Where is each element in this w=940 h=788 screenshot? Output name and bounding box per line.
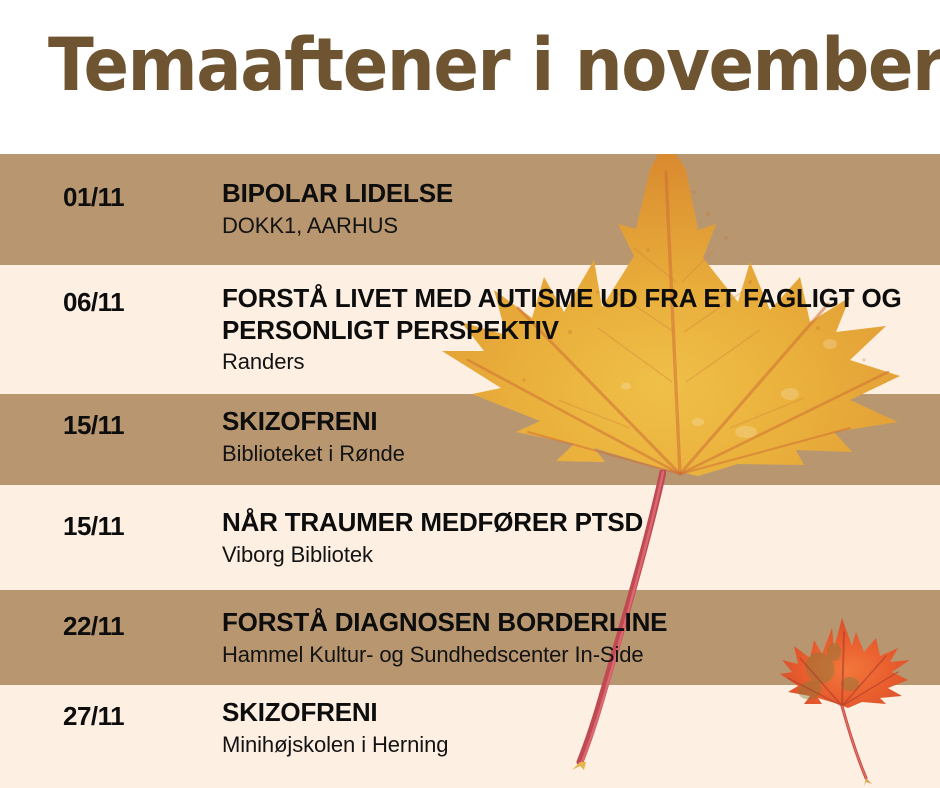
event-info: SKIZOFRENIMinihøjskolen i Herning: [222, 697, 930, 758]
event-row[interactable]: 22/11FORSTÅ DIAGNOSEN BORDERLINEHammel K…: [0, 590, 940, 685]
event-venue: Minihøjskolen i Herning: [222, 732, 930, 758]
event-row[interactable]: 01/11BIPOLAR LIDELSEDOKK1, AARHUS: [0, 154, 940, 265]
event-info: BIPOLAR LIDELSEDOKK1, AARHUS: [222, 178, 930, 239]
event-row[interactable]: 15/11SKIZOFRENIBiblioteket i Rønde: [0, 394, 940, 485]
event-title: BIPOLAR LIDELSE: [222, 178, 930, 210]
event-info: NÅR TRAUMER MEDFØRER PTSDViborg Bibliote…: [222, 507, 930, 568]
event-venue: DOKK1, AARHUS: [222, 213, 930, 239]
event-info: SKIZOFRENIBiblioteket i Rønde: [222, 406, 930, 467]
event-title: FORSTÅ DIAGNOSEN BORDERLINE: [222, 607, 930, 639]
page-title: Temaaftener i november: [48, 29, 940, 102]
event-title: SKIZOFRENI: [222, 697, 930, 729]
poster-header: Temaaftener i november: [0, 0, 940, 154]
event-row[interactable]: 27/11SKIZOFRENIMinihøjskolen i Herning: [0, 685, 940, 788]
event-title: NÅR TRAUMER MEDFØRER PTSD: [222, 507, 930, 539]
event-venue: Randers: [222, 349, 930, 375]
event-venue: Viborg Bibliotek: [222, 542, 930, 568]
event-date: 01/11: [63, 182, 124, 213]
event-date: 15/11: [63, 511, 124, 542]
event-row[interactable]: 06/11FORSTÅ LIVET MED AUTISME UD FRA ET …: [0, 265, 940, 394]
event-date: 06/11: [63, 287, 124, 318]
event-title: FORSTÅ LIVET MED AUTISME UD FRA ET FAGLI…: [222, 283, 930, 346]
event-venue: Biblioteket i Rønde: [222, 441, 930, 467]
event-date: 22/11: [63, 611, 124, 642]
event-row[interactable]: 15/11NÅR TRAUMER MEDFØRER PTSDViborg Bib…: [0, 485, 940, 590]
event-date: 27/11: [63, 701, 124, 732]
event-date: 15/11: [63, 410, 124, 441]
event-info: FORSTÅ DIAGNOSEN BORDERLINEHammel Kultur…: [222, 607, 930, 668]
event-title: SKIZOFRENI: [222, 406, 930, 438]
event-venue: Hammel Kultur- og Sundhedscenter In-Side: [222, 642, 930, 668]
event-info: FORSTÅ LIVET MED AUTISME UD FRA ET FAGLI…: [222, 283, 930, 376]
poster-canvas: Temaaftener i november 01/11BIPOLAR LIDE…: [0, 0, 940, 788]
